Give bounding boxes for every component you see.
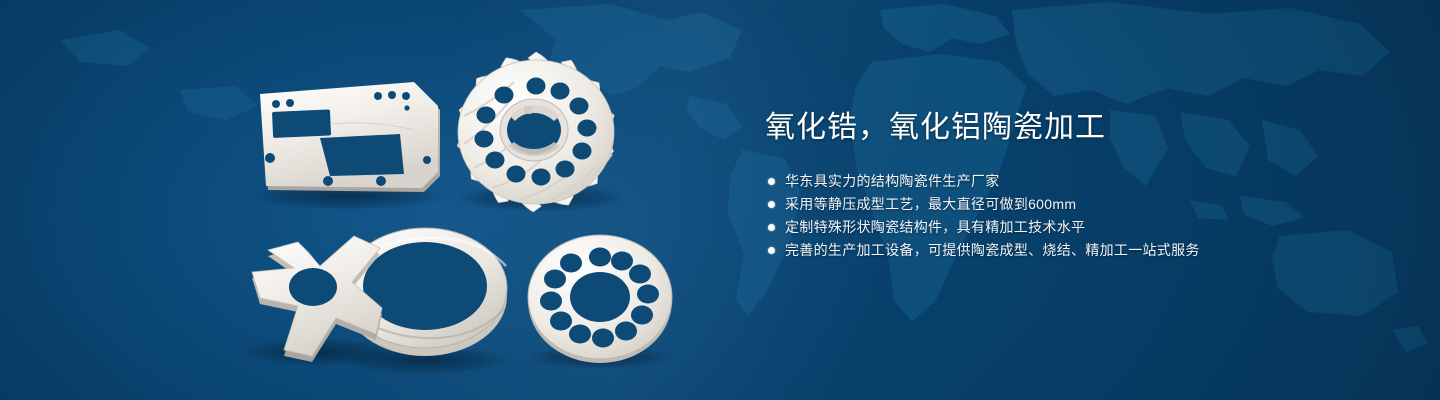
feature-list-item: 采用等静压成型工艺，最大直径可做到600mm [765, 193, 1385, 216]
product-images [0, 0, 760, 400]
banner-copy: 氧化锆，氧化铝陶瓷加工 华东具实力的结构陶瓷件生产厂家 采用等静压成型工艺，最大… [765, 108, 1385, 262]
bullet-dot-icon [768, 224, 775, 231]
feature-text: 定制特殊形状陶瓷结构件，具有精加工技术水平 [785, 219, 1085, 235]
feature-text: 华东具实力的结构陶瓷件生产厂家 [785, 173, 1000, 189]
ceramic-perforated-disc [528, 235, 672, 369]
feature-list-item: 华东具实力的结构陶瓷件生产厂家 [765, 170, 1385, 193]
hero-banner: 氧化锆，氧化铝陶瓷加工 华东具实力的结构陶瓷件生产厂家 采用等静压成型工艺，最大… [0, 0, 1440, 400]
ceramic-impeller-vaned-disc [454, 50, 626, 213]
feature-list: 华东具实力的结构陶瓷件生产厂家 采用等静压成型工艺，最大直径可做到600mm 定… [765, 170, 1385, 262]
bullet-dot-icon [768, 247, 775, 254]
bullet-dot-icon [768, 201, 775, 208]
feature-list-item: 定制特殊形状陶瓷结构件，具有精加工技术水平 [765, 216, 1385, 239]
ceramic-plate-with-cutouts [248, 82, 448, 210]
feature-list-item: 完善的生产加工设备，可提供陶瓷成型、烧结、精加工一站式服务 [765, 239, 1385, 262]
feature-text: 采用等静压成型工艺，最大直径可做到600mm [785, 196, 1076, 212]
feature-text: 完善的生产加工设备，可提供陶瓷成型、烧结、精加工一站式服务 [785, 242, 1200, 258]
ceramic-cross-shaped-part [242, 236, 394, 366]
banner-headline: 氧化锆，氧化铝陶瓷加工 [765, 108, 1385, 148]
bullet-dot-icon [768, 178, 775, 185]
